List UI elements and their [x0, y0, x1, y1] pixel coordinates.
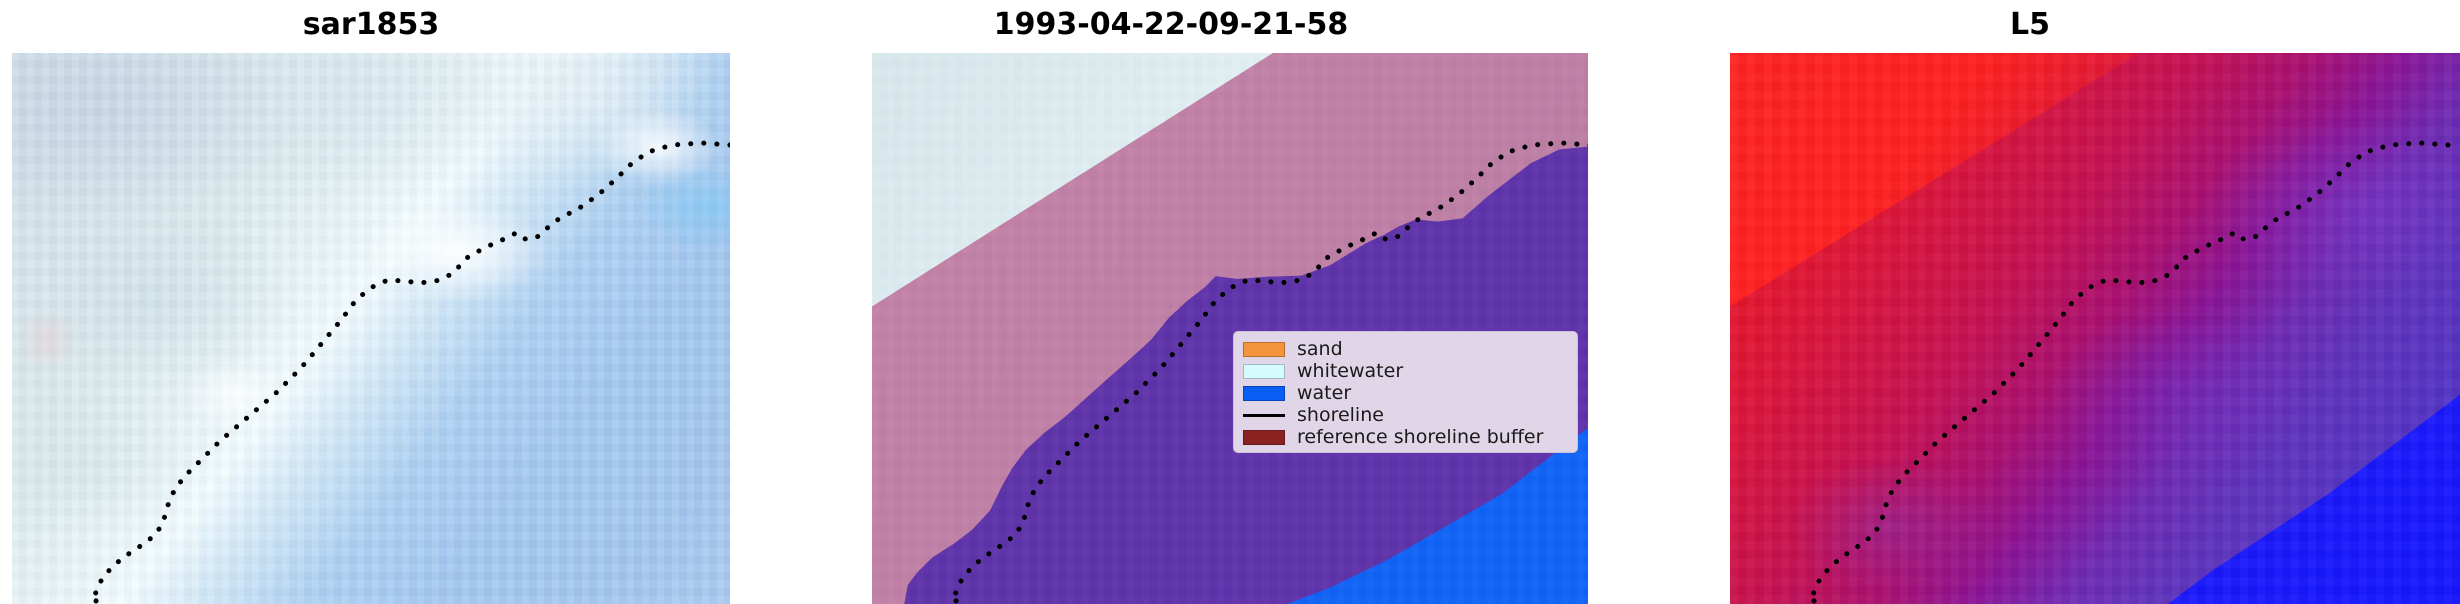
- legend-label-sand: sand: [1297, 339, 1343, 359]
- rgb-image[interactable]: [12, 53, 730, 604]
- shoreline-path: [1812, 143, 2448, 603]
- panel-index: L5: [1600, 0, 2460, 604]
- shoreline-overlay-classification: [872, 53, 1588, 604]
- index-image[interactable]: [1730, 53, 2460, 604]
- legend-label-whitewater: whitewater: [1297, 361, 1403, 381]
- shoreline-path: [94, 143, 730, 603]
- panel-rgb: sar1853: [0, 0, 742, 604]
- panel-title-classification: 1993-04-22-09-21-58: [742, 6, 1600, 44]
- legend-label-shoreline: shoreline: [1297, 405, 1384, 425]
- legend-label-water: water: [1297, 383, 1351, 403]
- legend-item-shoreline: shoreline: [1243, 404, 1567, 426]
- panel-title-rgb: sar1853: [0, 6, 742, 44]
- panel-classification: 1993-04-22-09-21-58: [742, 0, 1600, 604]
- legend[interactable]: sand whitewater water shoreline referenc…: [1233, 331, 1578, 453]
- legend-item-water: water: [1243, 382, 1567, 404]
- legend-item-reference-shoreline-buffer: reference shoreline buffer: [1243, 426, 1567, 448]
- classification-image[interactable]: [872, 53, 1588, 604]
- shoreline-overlay-index: [1730, 53, 2460, 604]
- legend-item-sand: sand: [1243, 338, 1567, 360]
- shoreline-overlay-rgb: [12, 53, 730, 604]
- figure-canvas: sar1853 1993-04-22-09-21-58 L5: [0, 0, 2460, 604]
- panel-title-index: L5: [1600, 6, 2460, 44]
- legend-swatch-water-icon: [1243, 386, 1285, 401]
- legend-swatch-sand-icon: [1243, 342, 1285, 357]
- legend-swatch-reference-buffer-icon: [1243, 430, 1285, 445]
- legend-swatch-whitewater-icon: [1243, 364, 1285, 379]
- legend-line-shoreline-icon: [1243, 408, 1285, 423]
- legend-label-reference-shoreline-buffer: reference shoreline buffer: [1297, 427, 1543, 447]
- legend-item-whitewater: whitewater: [1243, 360, 1567, 382]
